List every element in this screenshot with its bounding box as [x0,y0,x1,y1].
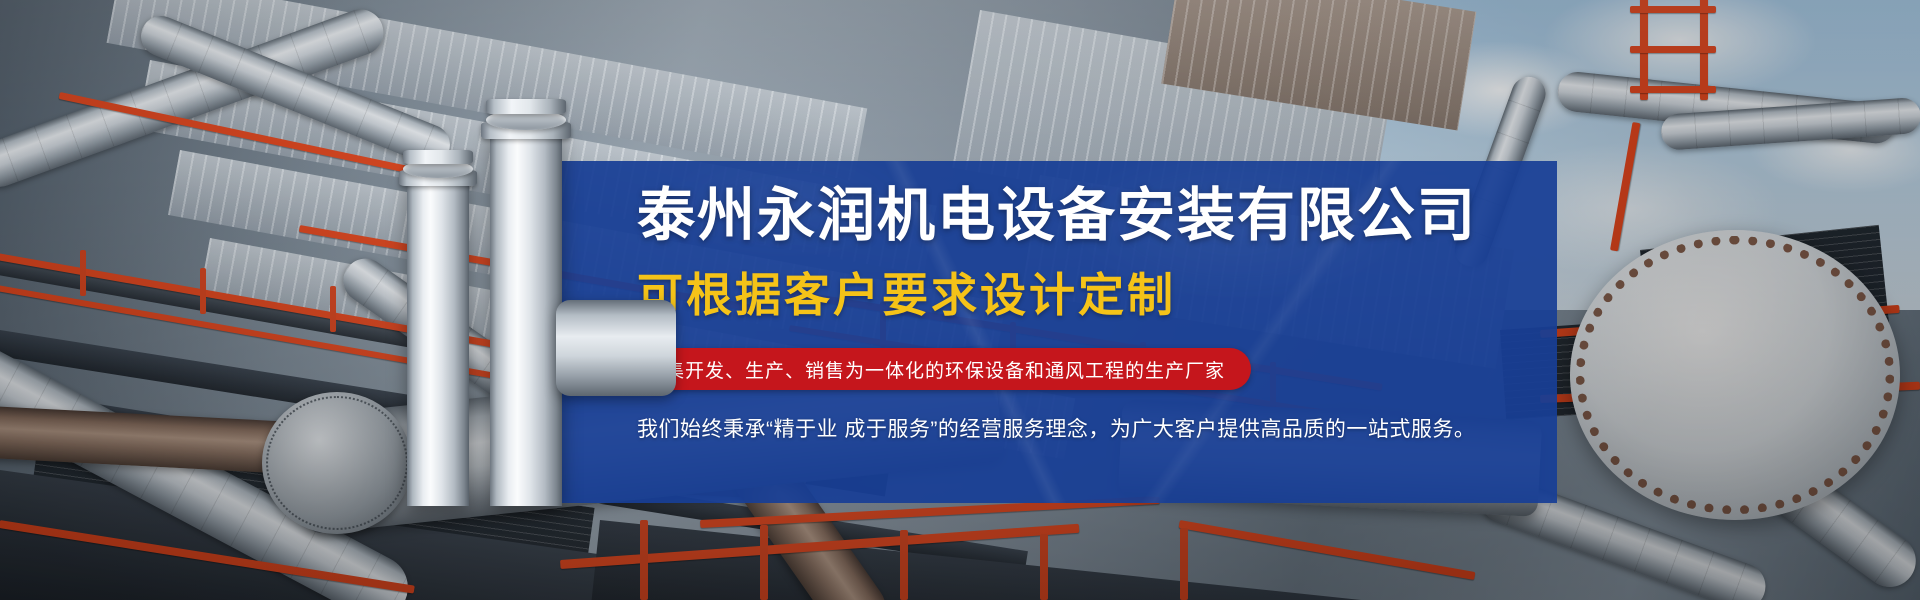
pressure-vessel-head [1570,230,1900,520]
stack-lip [403,150,473,164]
stainless-stack-pipe [407,176,469,506]
railing-post [200,268,206,314]
railing-post [1180,528,1188,600]
stainless-stack-pipe [490,128,562,506]
page-title: 泰州永润机电设备安装有限公司 [637,187,1557,245]
railing-post [330,286,336,332]
railing-post [640,520,648,600]
railing-post [1040,534,1048,600]
duct-flange [262,392,412,534]
railing-post [80,250,86,296]
ladder-cage-rung [1630,6,1716,13]
banner-stage: 泰州永润机电设备安装有限公司 可根据客户要求设计定制 集开发、生产、销售为一体化… [0,0,1920,600]
railing-post [900,530,908,600]
banner-subtitle: 可根据客户要求设计定制 [637,272,1176,318]
stack-lip [486,99,566,114]
railing-post [760,525,768,600]
ladder-cage-rung [1630,46,1716,53]
flange-bolts [266,396,408,530]
status-badge: 集开发、生产、销售为一体化的环保设备和通风工程的生产厂家 [639,348,1251,390]
stack-branch-duct [556,300,676,396]
ladder-cage-rung [1630,86,1716,93]
vessel-bolt-ring [1576,236,1894,514]
panel-content: 泰州永润机电设备安装有限公司 可根据客户要求设计定制 集开发、生产、销售为一体化… [637,161,1557,503]
banner-tagline: 我们始终秉承“精于业 成于服务”的经营服务理念，为广大客户提供高品质的一站式服务… [637,413,1475,443]
